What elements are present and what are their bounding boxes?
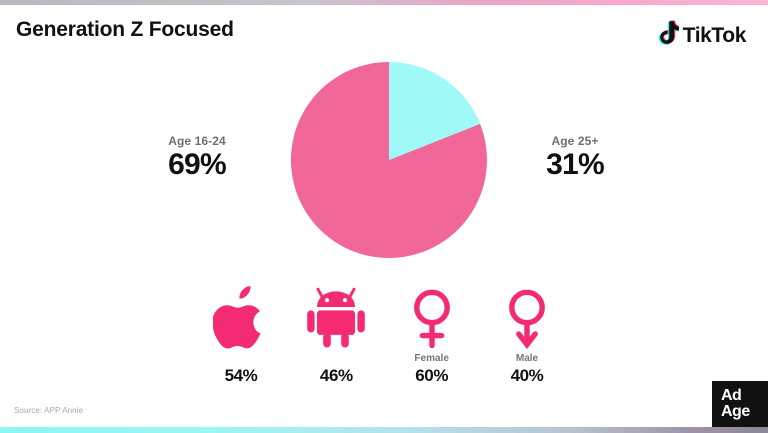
- pie-label-age-16-24-caption: Age 16-24: [132, 134, 262, 148]
- top-gradient-rule: [0, 0, 768, 5]
- stat-female: Female 60%: [387, 283, 477, 386]
- android-robot-icon: [291, 283, 381, 349]
- stat-male-value: 40%: [482, 366, 572, 386]
- stat-female-caption: Female: [387, 353, 477, 365]
- bottom-gradient-rule: [0, 427, 768, 433]
- page-title: Generation Z Focused: [16, 18, 234, 42]
- age-pie-chart: [291, 62, 487, 258]
- stats-row: 54%: [196, 283, 572, 386]
- stat-apple: 54%: [196, 283, 286, 386]
- adage-logo-line2: Age: [721, 404, 768, 420]
- stat-android-value: 46%: [291, 366, 381, 386]
- stat-apple-caption: [196, 353, 286, 365]
- tiktok-note-icon: [655, 20, 679, 51]
- stat-apple-value: 54%: [196, 366, 286, 386]
- tiktok-wordmark: TikTok: [683, 24, 746, 48]
- infographic-slide: Generation Z Focused TikTok Age 16-24 69…: [0, 0, 768, 433]
- tiktok-brand-logo: TikTok: [655, 20, 746, 51]
- pie-label-age-16-24: Age 16-24 69%: [132, 134, 262, 181]
- pie-label-age-25-plus: Age 25+ 31%: [510, 134, 640, 181]
- stat-android: 46%: [291, 283, 381, 386]
- adage-logo: Ad Age: [712, 381, 768, 427]
- pie-label-age-25-plus-value: 31%: [510, 149, 640, 181]
- stat-male: Male 40%: [482, 283, 572, 386]
- source-note: Source: APP Annie: [14, 406, 83, 415]
- pie-label-age-25-plus-caption: Age 25+: [510, 134, 640, 148]
- stat-android-caption: [291, 353, 381, 365]
- pie-label-age-16-24-value: 69%: [132, 149, 262, 181]
- apple-logo-icon: [196, 283, 286, 349]
- stat-female-value: 60%: [387, 366, 477, 386]
- adage-logo-line1: Ad: [721, 388, 768, 404]
- stat-male-caption: Male: [482, 353, 572, 365]
- male-symbol-icon: [482, 283, 572, 349]
- female-symbol-icon: [387, 283, 477, 349]
